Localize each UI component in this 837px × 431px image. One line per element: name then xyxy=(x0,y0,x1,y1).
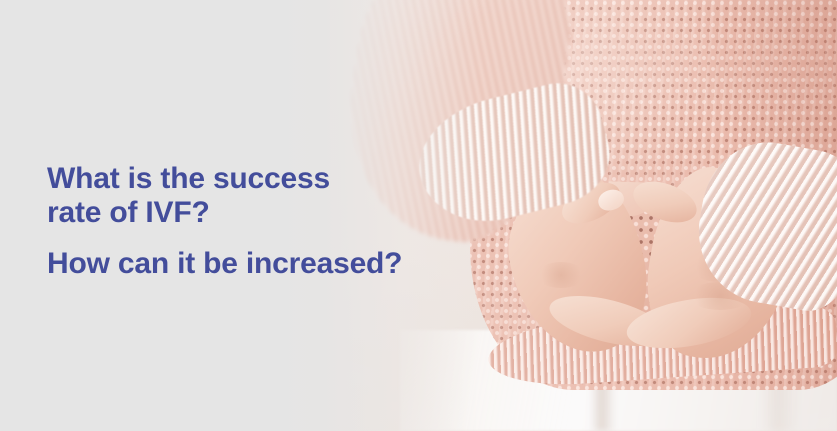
headline-block: What is the success rate of IVF? How can… xyxy=(47,162,477,281)
headline-line-3: How can it be increased? xyxy=(47,247,477,281)
ivf-hero-banner: What is the success rate of IVF? How can… xyxy=(0,0,837,431)
headline-line-1: What is the success xyxy=(47,162,477,196)
headline-line-2: rate of IVF? xyxy=(47,196,477,230)
